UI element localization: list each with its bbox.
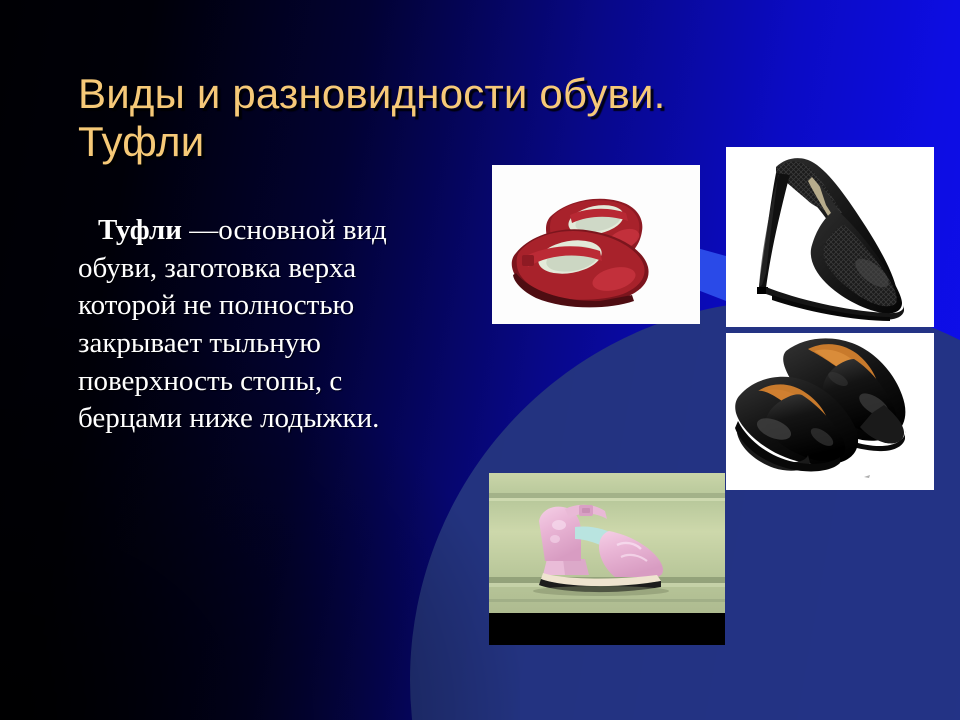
photo-red-mary-jane [492,165,700,324]
black-loafers-illustration [726,333,934,490]
body-lead-term: Туфли [98,214,182,246]
black-stiletto-illustration [726,147,934,327]
slide-body-text: Туфли —основной вид обуви, заготовка вер… [78,212,453,438]
photo-pink-girls-shoe [489,473,725,645]
pink-shoe-illustration [489,473,725,645]
presentation-slide: Виды и разновидности обуви. Туфли Туфли … [0,0,960,720]
photo-black-mens-loafers [726,333,934,490]
red-mary-jane-illustration [492,165,700,324]
photo-black-stiletto-pump [726,147,934,327]
body-definition: —основной вид обуви, заготовка верха кот… [78,214,387,434]
